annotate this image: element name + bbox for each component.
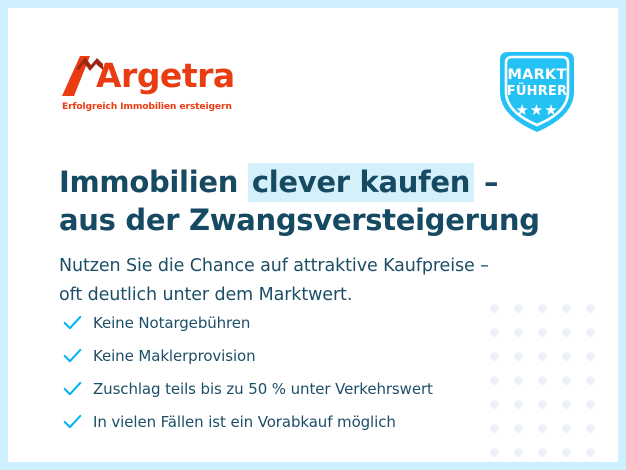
logo-wordmark: Argetra	[96, 59, 235, 92]
dot	[586, 400, 595, 409]
list-item: Zuschlag teils bis zu 50 % unter Verkehr…	[63, 372, 513, 405]
dot	[562, 376, 571, 385]
list-item-label: Zuschlag teils bis zu 50 % unter Verkehr…	[93, 380, 433, 398]
dot	[514, 376, 523, 385]
check-icon	[63, 346, 93, 366]
page-title: Immobilien clever kaufen –aus der Zwangs…	[59, 163, 540, 239]
headline-highlight: clever kaufen	[248, 163, 474, 202]
badge-stars: ★★★	[494, 103, 580, 118]
badge-line-2: FÜHRER	[494, 85, 580, 98]
dot	[538, 352, 547, 361]
dot	[514, 424, 523, 433]
promo-banner: Argetra Erfolgreich Immobilien ersteiger…	[0, 0, 626, 470]
dot	[586, 448, 595, 457]
list-item-label: In vielen Fällen ist ein Vorabkauf mögli…	[93, 413, 396, 431]
dot	[538, 424, 547, 433]
dot	[538, 400, 547, 409]
dot	[562, 448, 571, 457]
dot	[538, 448, 547, 457]
headline-line-2: aus der Zwangsversteigerung	[59, 203, 540, 237]
check-icon	[63, 412, 93, 432]
dot	[538, 376, 547, 385]
dot	[586, 328, 595, 337]
list-item-label: Keine Maklerprovision	[93, 347, 256, 365]
logo-row: Argetra	[60, 51, 260, 99]
headline-text-after: –	[474, 165, 498, 199]
badge-line-1: MARKT	[494, 68, 580, 83]
benefit-list: Keine Notargebühren Keine Maklerprovisio…	[63, 306, 513, 438]
list-item: Keine Maklerprovision	[63, 339, 513, 372]
check-icon	[63, 379, 93, 399]
list-item-label: Keine Notargebühren	[93, 314, 250, 332]
dot	[562, 352, 571, 361]
dot	[538, 304, 547, 313]
dot	[586, 376, 595, 385]
list-item: Keine Notargebühren	[63, 306, 513, 339]
dot	[538, 328, 547, 337]
dot	[514, 328, 523, 337]
market-leader-badge: MARKT FÜHRER ★★★	[494, 46, 580, 136]
dot	[562, 304, 571, 313]
headline-text-before: Immobilien	[59, 165, 248, 199]
check-icon	[63, 313, 93, 333]
argetra-logo[interactable]: Argetra Erfolgreich Immobilien ersteiger…	[60, 51, 260, 99]
dot	[586, 424, 595, 433]
logo-tagline: Erfolgreich Immobilien ersteigern	[62, 101, 232, 112]
dot	[514, 448, 523, 457]
list-item: In vielen Fällen ist ein Vorabkauf mögli…	[63, 405, 513, 438]
headline-line-1: Immobilien clever kaufen –	[59, 163, 498, 202]
dot	[514, 352, 523, 361]
dot	[562, 400, 571, 409]
dot	[490, 448, 499, 457]
subheadline: Nutzen Sie die Chance auf attraktive Kau…	[59, 252, 489, 310]
dot	[586, 352, 595, 361]
subheadline-line-1: Nutzen Sie die Chance auf attraktive Kau…	[59, 256, 489, 276]
dot	[514, 304, 523, 313]
dot	[562, 424, 571, 433]
subheadline-line-2: oft deutlich unter dem Marktwert.	[59, 285, 352, 305]
dot	[586, 304, 595, 313]
dot	[514, 400, 523, 409]
dot	[562, 328, 571, 337]
